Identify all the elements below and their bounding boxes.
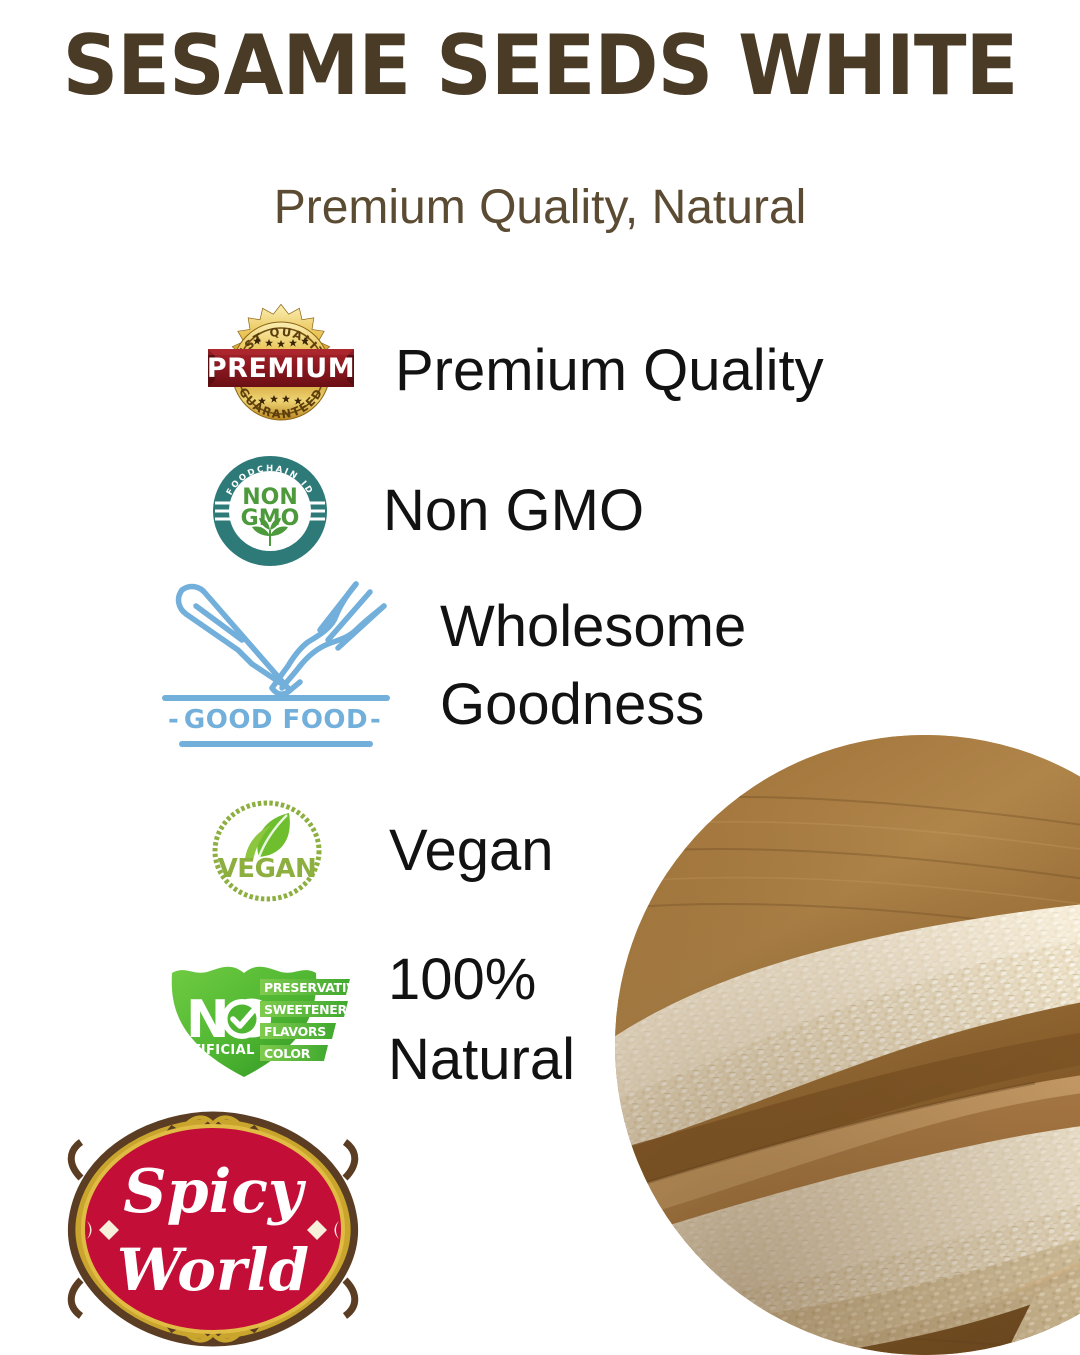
feature-row-non-gmo: FOODCHAIN ID CERTIFIED NON GMO Non GMO: [205, 448, 644, 574]
feature-row-premium-quality: BEST QUALITY GUARANTEED: [205, 300, 824, 442]
feature-label-vegan: Vegan: [389, 819, 554, 883]
banner-item: FLAVORS: [260, 1023, 336, 1039]
no-artificial-shield-badge: NO ARTIFICIAL PRESERVATIVE SWEETENERS: [160, 959, 352, 1081]
feature-label-wholesome-goodness: Wholesome Goodness: [440, 588, 746, 744]
logo-text-line1: Spicy: [123, 1157, 307, 1227]
banner-label: FLAVORS: [264, 1024, 326, 1039]
knife-and-fork-icon: [179, 584, 384, 694]
page-subtitle: Premium Quality, Natural: [0, 178, 1080, 238]
logo-text-line2: World: [117, 1236, 309, 1304]
non-gmo-certified-seal: FOODCHAIN ID CERTIFIED NON GMO: [205, 448, 335, 574]
banner-label: SWEETENERS: [264, 1002, 352, 1017]
feature-row-vegan: VEGAN Vegan: [205, 795, 554, 907]
feature-row-wholesome-goodness: - GOOD FOOD - Wholesome Goodness: [160, 578, 746, 753]
artificial-text: ARTIFICIAL: [171, 1043, 255, 1058]
feature-label-premium-quality: Premium Quality: [395, 339, 824, 403]
vegan-seal: VEGAN: [205, 795, 329, 907]
photo-artwork: [615, 735, 1080, 1355]
sesame-seeds-wooden-spoon-photo: [615, 735, 1080, 1355]
premium-ribbon-text: PREMIUM: [207, 353, 355, 384]
page-title: SESAME SEEDS WHITE: [38, 18, 1042, 113]
feature-label-100-percent-natural: 100% Natural: [388, 940, 575, 1100]
feature-label-non-gmo: Non GMO: [383, 479, 644, 543]
good-food-dash-left: -: [168, 705, 179, 735]
feature-row-100-percent-natural: NO ARTIFICIAL PRESERVATIVE SWEETENERS: [160, 940, 575, 1100]
banner-item: PRESERVATIVE: [260, 979, 352, 995]
good-food-icon: - GOOD FOOD -: [160, 578, 392, 753]
good-food-text: GOOD FOOD: [184, 705, 368, 735]
banner-item: SWEETENERS: [260, 1001, 352, 1017]
banner-label: PRESERVATIVE: [264, 980, 352, 995]
premium-quality-badge: BEST QUALITY GUARANTEED: [205, 300, 357, 442]
vegan-text: VEGAN: [218, 854, 317, 884]
banner-label: COLOR: [264, 1046, 311, 1061]
non-gmo-text-line2: GMO: [241, 506, 300, 531]
good-food-dash-right: -: [370, 705, 381, 735]
banner-item: COLOR: [260, 1045, 328, 1061]
no-artificial-text-group: NO ARTIFICIAL: [171, 990, 274, 1058]
spicy-world-logo: Spicy World: [57, 1108, 369, 1350]
